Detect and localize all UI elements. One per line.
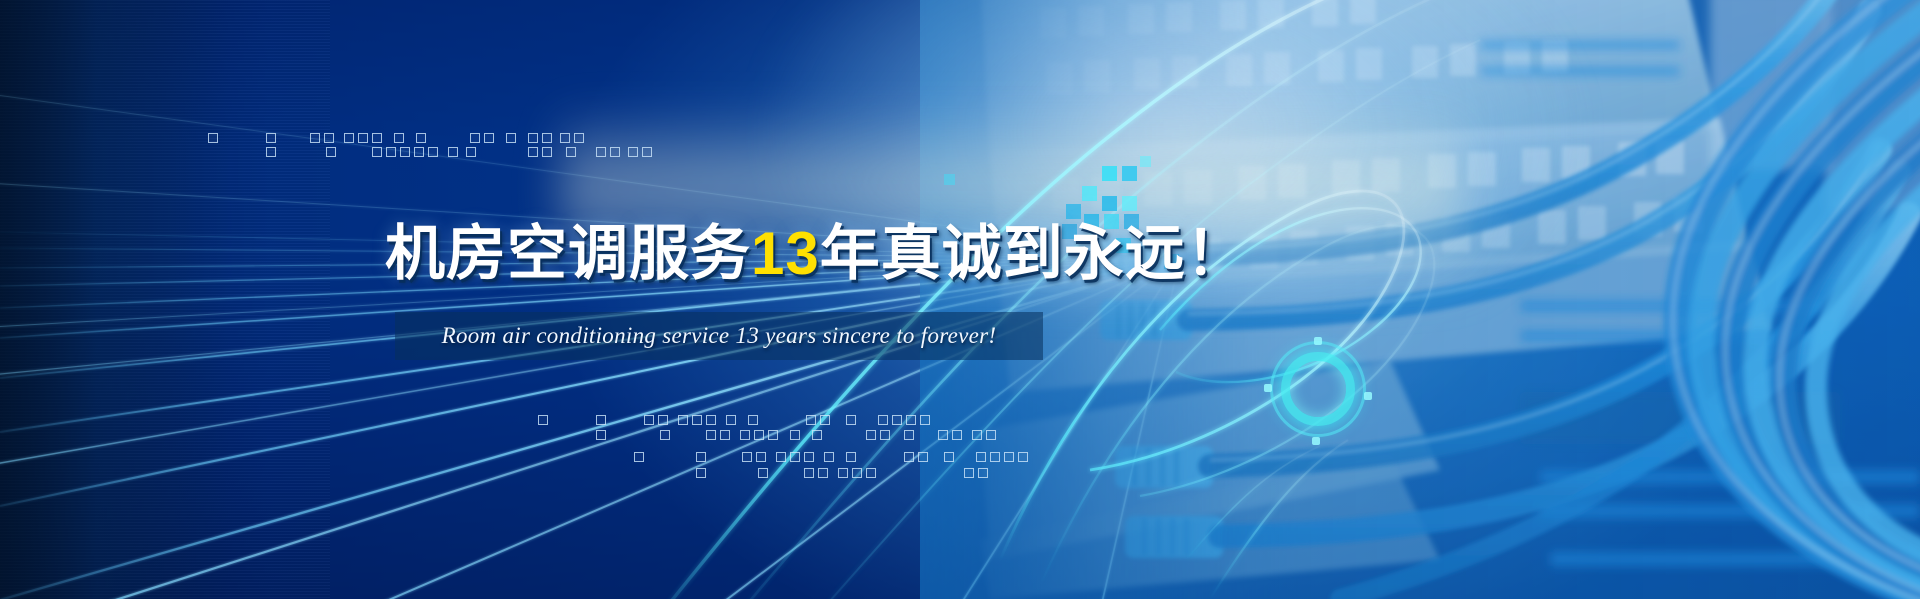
subtitle-text: Room air conditioning service 13 years s… (395, 312, 1043, 360)
headline-highlight: 13 (751, 220, 820, 287)
headline-suffix: 年真诚到永远！ (820, 220, 1247, 287)
light-swoosh-group (0, 0, 1920, 599)
hero-banner: 机房空调服务13年真诚到永远！ Room air conditioning se… (0, 0, 1920, 599)
subtitle-bar: Room air conditioning service 13 years s… (395, 312, 1043, 360)
page-title: 机房空调服务13年真诚到永远！ (385, 205, 1247, 292)
headline-prefix: 机房空调服务 (385, 220, 751, 287)
